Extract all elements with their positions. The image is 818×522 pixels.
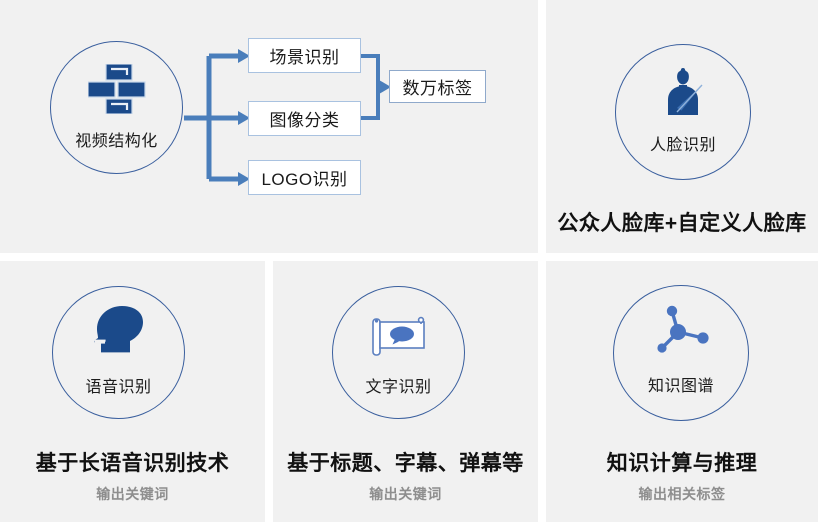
caption-text-recognition: 基于标题、字幕、弹幕等 — [273, 447, 538, 477]
caption-face-recognition: 公众人脸库+自定义人脸库 — [546, 207, 818, 237]
circle-label-face-recognition: 人脸识别 — [616, 131, 750, 155]
subcaption-text-recognition: 输出关键词 — [273, 484, 538, 504]
caption-knowledge-graph: 知识计算与推理 — [546, 447, 818, 477]
circle-video-structuring[interactable]: 视频结构化 — [50, 41, 183, 174]
circle-text-recognition[interactable]: 文字识别 — [332, 286, 465, 419]
circle-face-recognition[interactable]: 人脸识别 — [615, 44, 751, 180]
video-structuring-icon — [51, 64, 182, 114]
flow-box-scene-recognition[interactable]: 场景识别 — [248, 38, 361, 73]
circle-label-knowledge-graph: 知识图谱 — [614, 372, 748, 396]
capability-overview-board: 视频结构化 场景识别 图像分类 — [0, 0, 818, 522]
circle-speech-recognition[interactable]: 语音识别 — [52, 286, 185, 419]
circle-label-text-recognition: 文字识别 — [333, 373, 464, 397]
flow-box-tens-of-thousands-tags[interactable]: 数万标签 — [389, 70, 486, 103]
knowledge-graph-icon — [614, 302, 748, 358]
panel-knowledge-graph: 知识图谱 知识计算与推理 输出相关标签 — [546, 261, 818, 522]
flow-box-image-classification[interactable]: 图像分类 — [248, 101, 361, 136]
circle-knowledge-graph[interactable]: 知识图谱 — [613, 285, 749, 421]
panel-speech-recognition: 语音识别 基于长语音识别技术 输出关键词 — [0, 261, 265, 522]
caption-speech-recognition: 基于长语音识别技术 — [0, 447, 265, 477]
panel-face-recognition: 人脸识别 公众人脸库+自定义人脸库 — [546, 0, 818, 253]
circle-label-video-structuring: 视频结构化 — [51, 127, 182, 151]
panel-video-structuring: 视频结构化 场景识别 图像分类 — [0, 0, 538, 253]
circle-label-speech-recognition: 语音识别 — [53, 373, 184, 397]
flow-box-logo-label: LOGO识别 — [261, 165, 347, 190]
flow-box-image-label: 图像分类 — [270, 106, 340, 131]
text-recognition-icon — [333, 315, 464, 359]
speech-recognition-icon — [53, 305, 184, 357]
flow-box-logo-recognition[interactable]: LOGO识别 — [248, 160, 361, 195]
panel-text-recognition: 文字识别 基于标题、字幕、弹幕等 输出关键词 — [273, 261, 538, 522]
subcaption-speech-recognition: 输出关键词 — [0, 484, 265, 504]
flow-box-scene-label: 场景识别 — [270, 43, 340, 68]
subcaption-knowledge-graph: 输出相关标签 — [546, 484, 818, 504]
face-recognition-icon — [616, 65, 750, 119]
flow-box-tags-label: 数万标签 — [403, 74, 473, 99]
